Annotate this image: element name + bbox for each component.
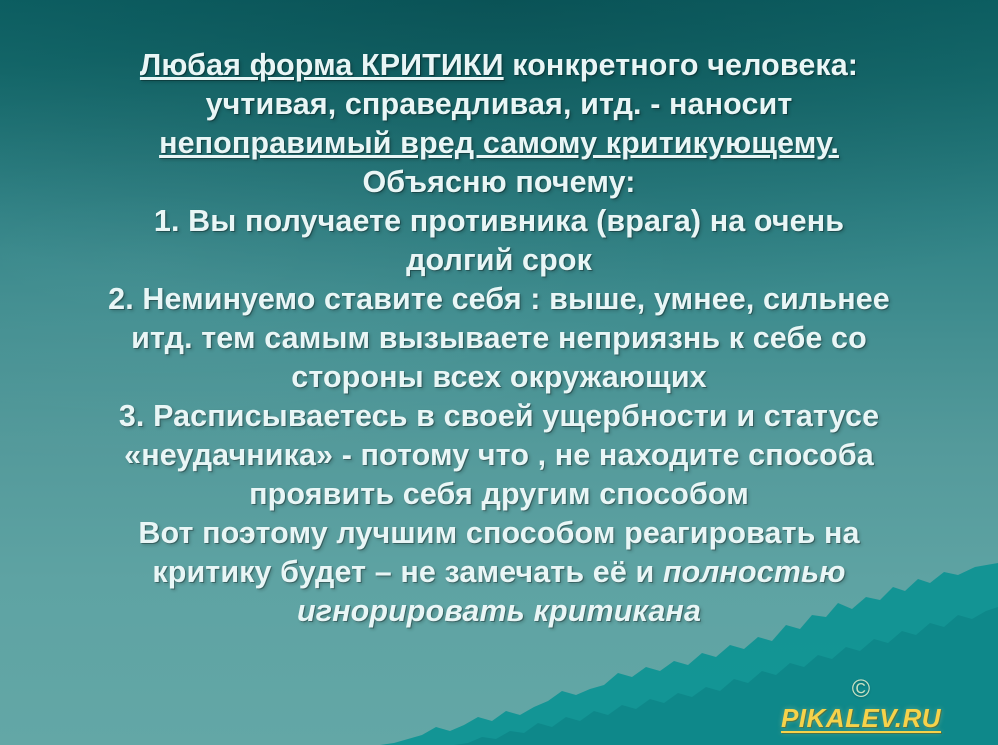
watermark-site-link[interactable]: PIKALEV.RU [781,705,941,731]
text-line-7: 2. Неминуемо ставите себя : выше, умнее,… [26,280,972,319]
text-line-3: непоправимый вред самому критикующему. [26,124,972,163]
text-line-5: 1. Вы получаете противника (врага) на оч… [26,202,972,241]
text-line-4: Объясню почему: [26,163,972,202]
text-line-14-italic: полностью [663,555,846,589]
text-line-8: итд. тем самым вызываете неприязнь к себ… [26,319,972,358]
text-line-12: проявить себя другим способом [26,475,972,514]
text-line-2: учтивая, справедливая, итд. - наносит [26,85,972,124]
text-line-1: Любая форма КРИТИКИ конкретного человека… [26,46,972,85]
text-line-1-plain: конкретного человека: [504,48,858,82]
text-line-3-underlined: непоправимый вред самому критикующему. [159,126,839,160]
text-line-11: «неудачника» - потому что , не находите … [26,436,972,475]
text-line-9: стороны всех окружающих [26,358,972,397]
watermark[interactable]: © PIKALEV.RU [776,677,946,731]
text-line-15-italic: игнорировать критикана [297,594,701,628]
text-line-10: 3. Расписываетесь в своей ущербности и с… [26,397,972,436]
text-line-6: долгий срок [26,241,972,280]
slide-text-content: Любая форма КРИТИКИ конкретного человека… [0,0,998,745]
text-line-1-underlined: Любая форма КРИТИКИ [140,48,504,82]
text-line-14: критику будет – не замечать её и полност… [26,553,972,592]
text-line-15: игнорировать критикана [26,592,972,631]
text-line-14-plain: критику будет – не замечать её и [152,555,663,589]
text-line-13: Вот поэтому лучшим способом реагировать … [26,514,972,553]
slide-canvas: Любая форма КРИТИКИ конкретного человека… [0,0,998,745]
copyright-icon: © [776,677,946,702]
